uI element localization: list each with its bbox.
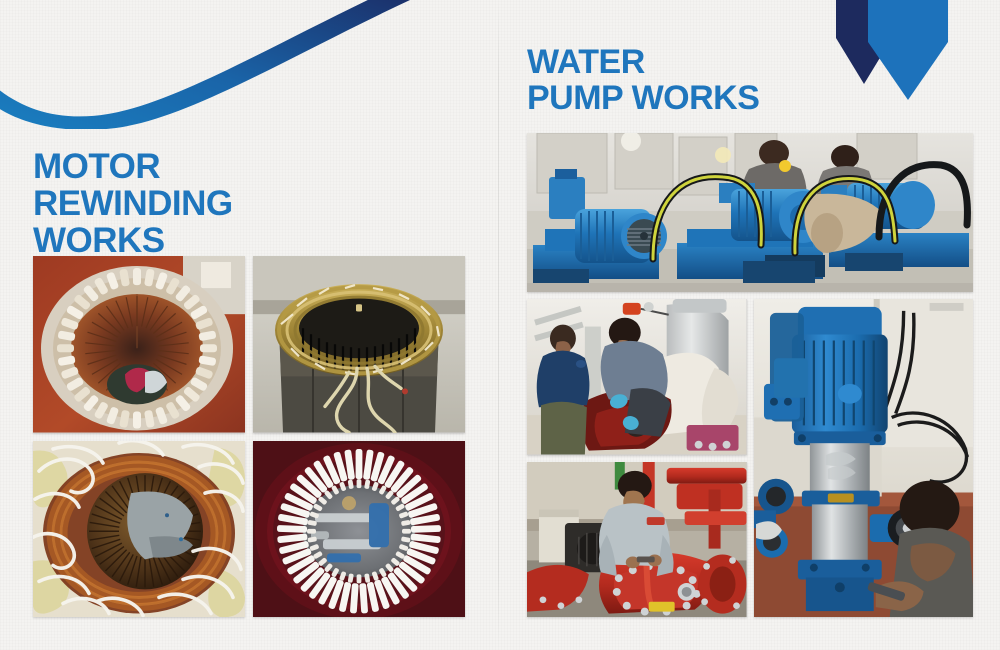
motor-rewinding-photo-grid bbox=[33, 256, 465, 617]
title-line-2: PUMP WORKS bbox=[527, 80, 973, 116]
photo-vertical-multistage-blue-pump[interactable] bbox=[754, 299, 974, 617]
water-pump-photo-grid bbox=[527, 133, 973, 617]
title-line-1: MOTOR bbox=[33, 148, 468, 185]
photo-stator-golden-winding-lead-wires[interactable] bbox=[253, 256, 465, 433]
photo-technician-with-red-fire-pump[interactable] bbox=[527, 462, 747, 618]
photo-stator-copper-coil-with-sleeving[interactable] bbox=[33, 441, 245, 618]
photo-technicians-servicing-red-pump[interactable] bbox=[527, 299, 747, 455]
title-line-1: WATER bbox=[527, 44, 973, 80]
photo-stator-top-view-white-wedges[interactable] bbox=[253, 441, 465, 618]
photo-stator-copper-winding-orange-frame[interactable] bbox=[33, 256, 245, 433]
water-pump-title: WATER PUMP WORKS bbox=[527, 44, 973, 116]
water-pump-section: WATER PUMP WORKS bbox=[527, 44, 973, 116]
title-line-3: WORKS bbox=[33, 222, 468, 259]
title-line-2: REWINDING bbox=[33, 185, 468, 222]
motor-rewinding-title: MOTOR REWINDING WORKS bbox=[33, 148, 468, 259]
motor-rewinding-section: MOTOR REWINDING WORKS bbox=[33, 148, 468, 259]
column-divider bbox=[498, 0, 499, 650]
photo-blue-pump-motor-bank-workshop[interactable] bbox=[527, 133, 973, 292]
